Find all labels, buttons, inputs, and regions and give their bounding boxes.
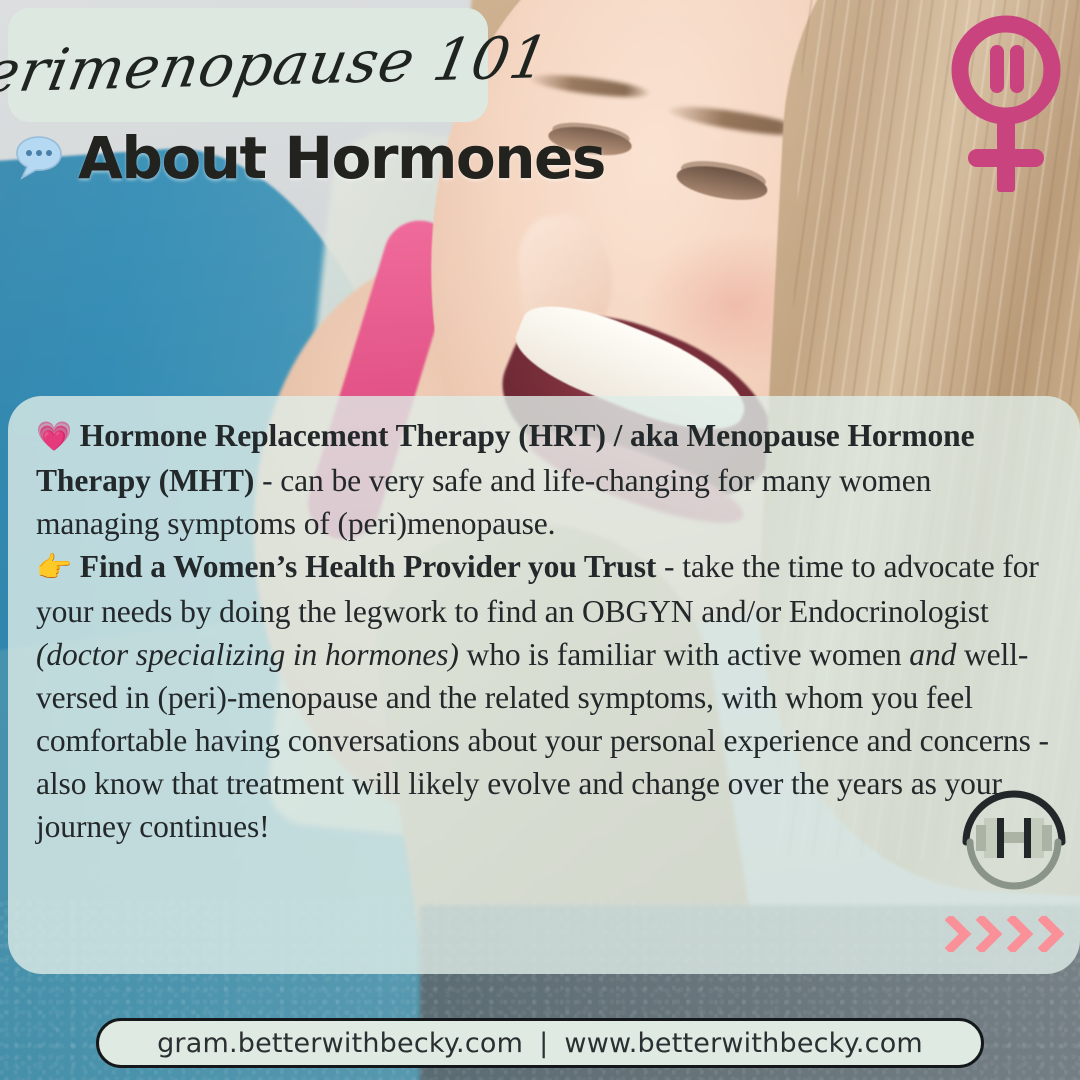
chevron-right-icon xyxy=(976,916,1004,952)
bullet-2-italic-1: (doctor specializing in hormones) xyxy=(36,637,459,672)
footer-handle[interactable]: gram.betterwithbecky.com xyxy=(157,1028,523,1059)
footer-links-pill[interactable]: gram.betterwithbecky.com|www.betterwithb… xyxy=(96,1018,984,1068)
chevron-right-icon xyxy=(945,916,973,952)
section-heading: About Hormones xyxy=(78,124,605,192)
bullet-2-italic-2: and xyxy=(909,637,956,672)
chevron-right-icon xyxy=(1038,916,1066,952)
pointing-right-hand-icon: 👉 xyxy=(36,552,72,584)
bullet-2-rest-2: who is familiar with active women xyxy=(459,637,910,672)
footer-website[interactable]: www.betterwithbecky.com xyxy=(564,1028,923,1059)
page-title: Perimenopause 101 xyxy=(0,23,555,107)
body-copy: 💗 Hormone Replacement Therapy (HRT) / ak… xyxy=(36,414,1054,848)
footer-separator: | xyxy=(523,1028,564,1059)
venus-pause-icon xyxy=(946,14,1066,199)
content-card: 💗 Hormone Replacement Therapy (HRT) / ak… xyxy=(8,396,1080,974)
chevron-right-icon xyxy=(1007,916,1035,952)
dumbbell-in-circle-icon xyxy=(956,780,1072,896)
footer-text: gram.betterwithbecky.com|www.betterwithb… xyxy=(157,1028,923,1059)
growing-heart-icon: 💗 xyxy=(36,421,72,453)
bullet-2-lead: Find a Women’s Health Provider you Trust xyxy=(80,549,656,584)
speech-balloon-icon xyxy=(14,134,64,182)
chevron-accent-group xyxy=(945,916,1066,952)
heading-row: About Hormones xyxy=(14,124,605,192)
script-title-box: Perimenopause 101 xyxy=(8,8,488,122)
